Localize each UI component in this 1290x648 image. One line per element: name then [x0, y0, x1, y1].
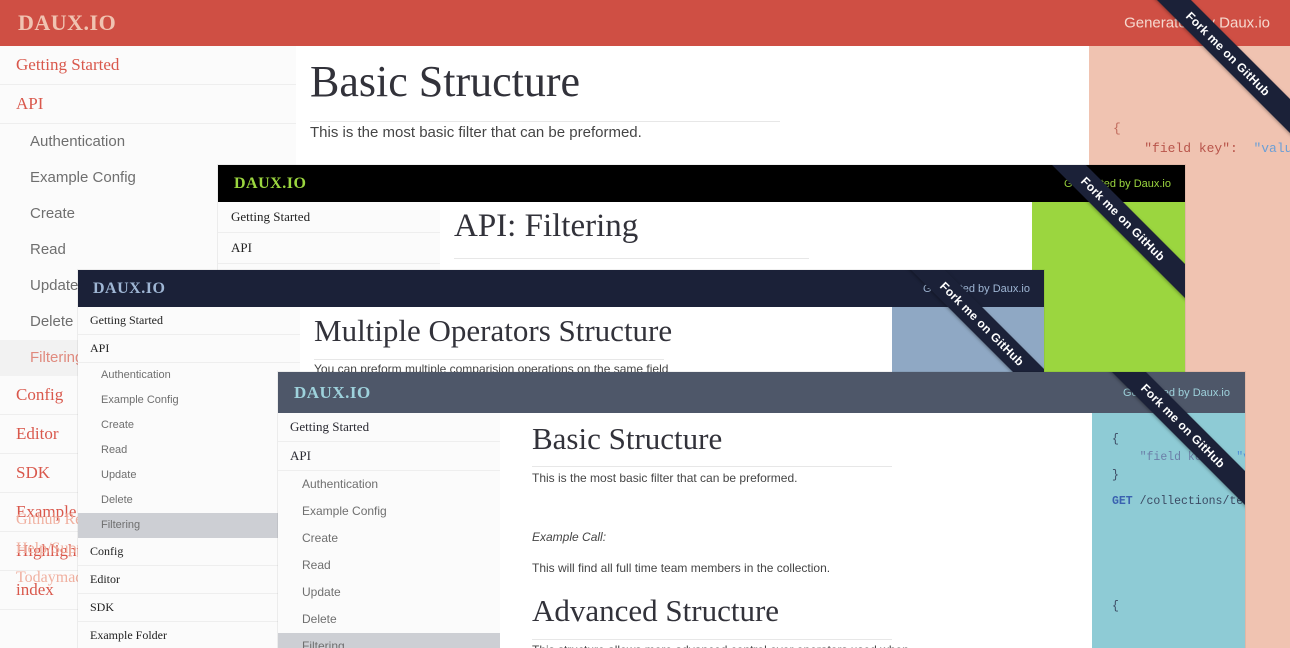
sidebar-item-filtering[interactable]: Filtering — [78, 513, 300, 538]
page-title: Basic Structure — [532, 421, 722, 457]
intro-paragraph: This is the most basic filter that can b… — [532, 471, 797, 485]
sidebar-item-filtering[interactable]: Filtering — [278, 633, 500, 648]
sidebar-item-read[interactable]: Read — [278, 552, 500, 579]
code-path: /collections/team — [1140, 495, 1245, 508]
code-brace-open-2: { — [1112, 600, 1119, 613]
generated-by-label: Generated by Daux.io — [923, 283, 1030, 295]
brand-logo[interactable]: DAUX.IO — [18, 10, 116, 36]
sidebar-item-getting-started[interactable]: Getting Started — [0, 46, 296, 85]
code-value: "value" — [1236, 451, 1245, 464]
code-sample-advanced: { — [1112, 598, 1119, 616]
title-divider — [532, 466, 892, 467]
sidebar-item-getting-started[interactable]: Getting Started — [78, 307, 300, 335]
sidebar-item-create[interactable]: Create — [278, 525, 500, 552]
sidebar-item-example-folder[interactable]: Example Folder — [78, 622, 300, 648]
sidebar-item-api[interactable]: API — [0, 85, 296, 124]
brand-logo[interactable]: DAUX.IO — [294, 383, 371, 403]
code-http-verb: GET — [1112, 495, 1133, 508]
sidebar-item-read[interactable]: Read — [78, 438, 300, 463]
sidebar-item-config[interactable]: Config — [78, 538, 300, 566]
code-sample-basic: { "field key": "value" } — [1112, 431, 1245, 484]
code-brace-open: { — [1113, 121, 1121, 136]
sidebar-item-getting-started[interactable]: Getting Started — [218, 202, 440, 233]
window2-topbar: DAUX.IO Generated by Daux.io — [218, 165, 1185, 202]
sidebar-item-example-config[interactable]: Example Config — [278, 498, 500, 525]
sidebar-item-create[interactable]: Create — [78, 413, 300, 438]
sidebar-item-api[interactable]: API — [78, 335, 300, 363]
window4-topbar: DAUX.IO Generated by Daux.io — [278, 372, 1245, 413]
result-paragraph: This will find all full time team member… — [532, 561, 830, 575]
sidebar-item-update[interactable]: Update — [278, 579, 500, 606]
window4-sidebar[interactable]: Getting Started API Authentication Examp… — [278, 413, 501, 648]
window4-content: Basic Structure This is the most basic f… — [500, 413, 1245, 648]
code-key: "field key": — [1140, 451, 1223, 464]
page-subtitle-advanced: Advanced Structure — [532, 593, 779, 629]
brand-logo[interactable]: DAUX.IO — [93, 280, 165, 298]
sidebar-item-api[interactable]: API — [218, 233, 440, 264]
intro-paragraph: This is the most basic filter that can b… — [310, 124, 642, 141]
subtitle-divider — [532, 639, 892, 640]
code-brace-open: { — [1112, 433, 1119, 446]
advanced-paragraph: This structure allows more advanced cont… — [532, 643, 909, 648]
generated-by-label: Generated by Daux.io — [1064, 178, 1171, 190]
brand-logo[interactable]: DAUX.IO — [234, 175, 306, 193]
page-title: Multiple Operators Structure — [314, 313, 672, 349]
sidebar-item-authentication[interactable]: Authentication — [0, 124, 296, 160]
sidebar-item-api[interactable]: API — [278, 442, 500, 471]
page-title: API: Filtering — [454, 208, 638, 245]
example-call-label: Example Call: — [532, 530, 606, 544]
sidebar-item-delete[interactable]: Delete — [78, 488, 300, 513]
sidebar-item-authentication[interactable]: Authentication — [278, 471, 500, 498]
desktop-background: { "brand": "DAUX.IO", "generated_by": "G… — [0, 0, 1290, 648]
page-title: Basic Structure — [310, 56, 580, 107]
generated-by-label: Generated by Daux.io — [1124, 15, 1270, 32]
sidebar-item-example-config[interactable]: Example Config — [78, 388, 300, 413]
code-brace-close: } — [1112, 469, 1119, 482]
code-value: "value" — [1253, 141, 1290, 156]
sidebar-item-update[interactable]: Update — [78, 463, 300, 488]
sidebar-item-sdk[interactable]: SDK — [78, 594, 300, 622]
title-divider — [310, 121, 780, 122]
title-divider — [454, 258, 809, 259]
generated-by-label: Generated by Daux.io — [1123, 387, 1230, 399]
code-key: "field key": — [1144, 141, 1238, 156]
window1-topbar: DAUX.IO Generated by Daux.io — [0, 0, 1290, 46]
sidebar-item-getting-started[interactable]: Getting Started — [278, 413, 500, 442]
window4-code-panel: { "field key": "value" } GET /collection… — [1092, 413, 1245, 648]
title-divider — [314, 359, 664, 360]
window3-topbar: DAUX.IO Generated by Daux.io — [78, 270, 1044, 307]
window-slate-theme[interactable]: DAUX.IO Generated by Daux.io Getting Sta… — [278, 372, 1245, 648]
sidebar-item-delete[interactable]: Delete — [278, 606, 500, 633]
code-sample-basic: { "field key": "value" — [1113, 119, 1290, 159]
sidebar-item-authentication[interactable]: Authentication — [78, 363, 300, 388]
window3-sidebar[interactable]: Getting Started API Authentication Examp… — [78, 307, 301, 648]
code-sample-request: GET /collections/team?filter={"employmen… — [1112, 493, 1245, 511]
sidebar-item-editor[interactable]: Editor — [78, 566, 300, 594]
